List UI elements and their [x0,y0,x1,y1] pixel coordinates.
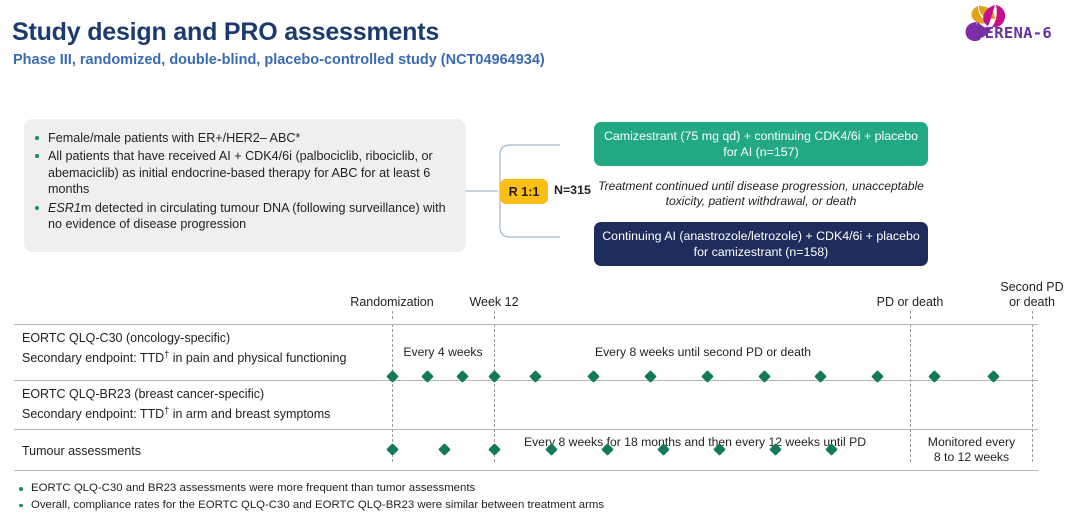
assessment-marker-diamond [386,443,399,456]
treatment-continuation-note: Treatment continued until disease progre… [594,172,928,216]
slide-root: Study design and PRO assessments Phase I… [0,0,1080,522]
footnotes: EORTC QLQ-C30 and BR23 assessments were … [14,481,1064,514]
arm-camizestrant-box: Camizestrant (75 mg qd) + continuing CDK… [594,122,928,166]
milestone-label-second-pd-or-death: Second PD or death [985,280,1079,309]
arm-continuing-ai-box: Continuing AI (anastrozole/letrozole) + … [594,222,928,266]
row-label-qlq-br23: EORTC QLQ-BR23 (breast cancer-specific) … [22,386,330,422]
guide-tick-week-12 [494,311,495,319]
milestone-label-week-12: Week 12 [456,295,532,310]
guide-line-second-pd [1032,324,1033,462]
band-text-tumour-schedule: Every 8 weeks for 18 months and then eve… [480,435,910,450]
row-label-tumour-assessments: Tumour assessments [22,443,141,459]
table-rule-top [14,324,1038,325]
randomization-ratio-badge: R 1:1 [500,179,548,204]
milestone-label-pd-or-death: PD or death [855,295,965,310]
assessment-timeline: Randomization Week 12 PD or death Second… [0,272,1080,472]
list-item: Female/male patients with ER+/HER2– ABC* [48,130,456,146]
guide-tick-pd-or-death [910,311,911,319]
eligibility-list: Female/male patients with ER+/HER2– ABC*… [24,119,466,232]
band-text-every-8-weeks: Every 8 weeks until second PD or death [496,345,910,360]
guide-tick-second-pd [1032,311,1033,319]
page-subtitle: Phase III, randomized, double-blind, pla… [13,52,545,68]
milestone-label-randomization: Randomization [342,295,442,310]
logo-wordmark: SERENA-6 [975,24,1052,42]
gene-name-esr1: ESR1 [48,201,81,215]
band-text-every-4-weeks: Every 4 weeks [393,345,493,360]
list-item: ESR1m detected in circulating tumour DNA… [48,200,456,233]
table-rule-bottom [14,470,1038,471]
guide-tick-randomization [392,311,393,319]
row-label-qlq-c30: EORTC QLQ-C30 (oncology-specific) Second… [22,330,346,366]
band-text-monitored-every: Monitored every 8 to 12 weeks [911,435,1032,465]
table-rule-1 [14,380,1038,381]
footnote-item: EORTC QLQ-C30 and BR23 assessments were … [14,481,1064,497]
table-rule-2 [14,429,1038,430]
total-n-label: N=315 [554,183,591,197]
eligibility-criteria-box: Female/male patients with ER+/HER2– ABC*… [24,119,466,252]
footnote-item: Overall, compliance rates for the EORTC … [14,498,1064,514]
serena-6-logo: SERENA-6 [957,2,1075,44]
page-title: Study design and PRO assessments [12,18,439,47]
assessment-marker-diamond [438,443,451,456]
list-item: All patients that have received AI + CDK… [48,148,456,197]
